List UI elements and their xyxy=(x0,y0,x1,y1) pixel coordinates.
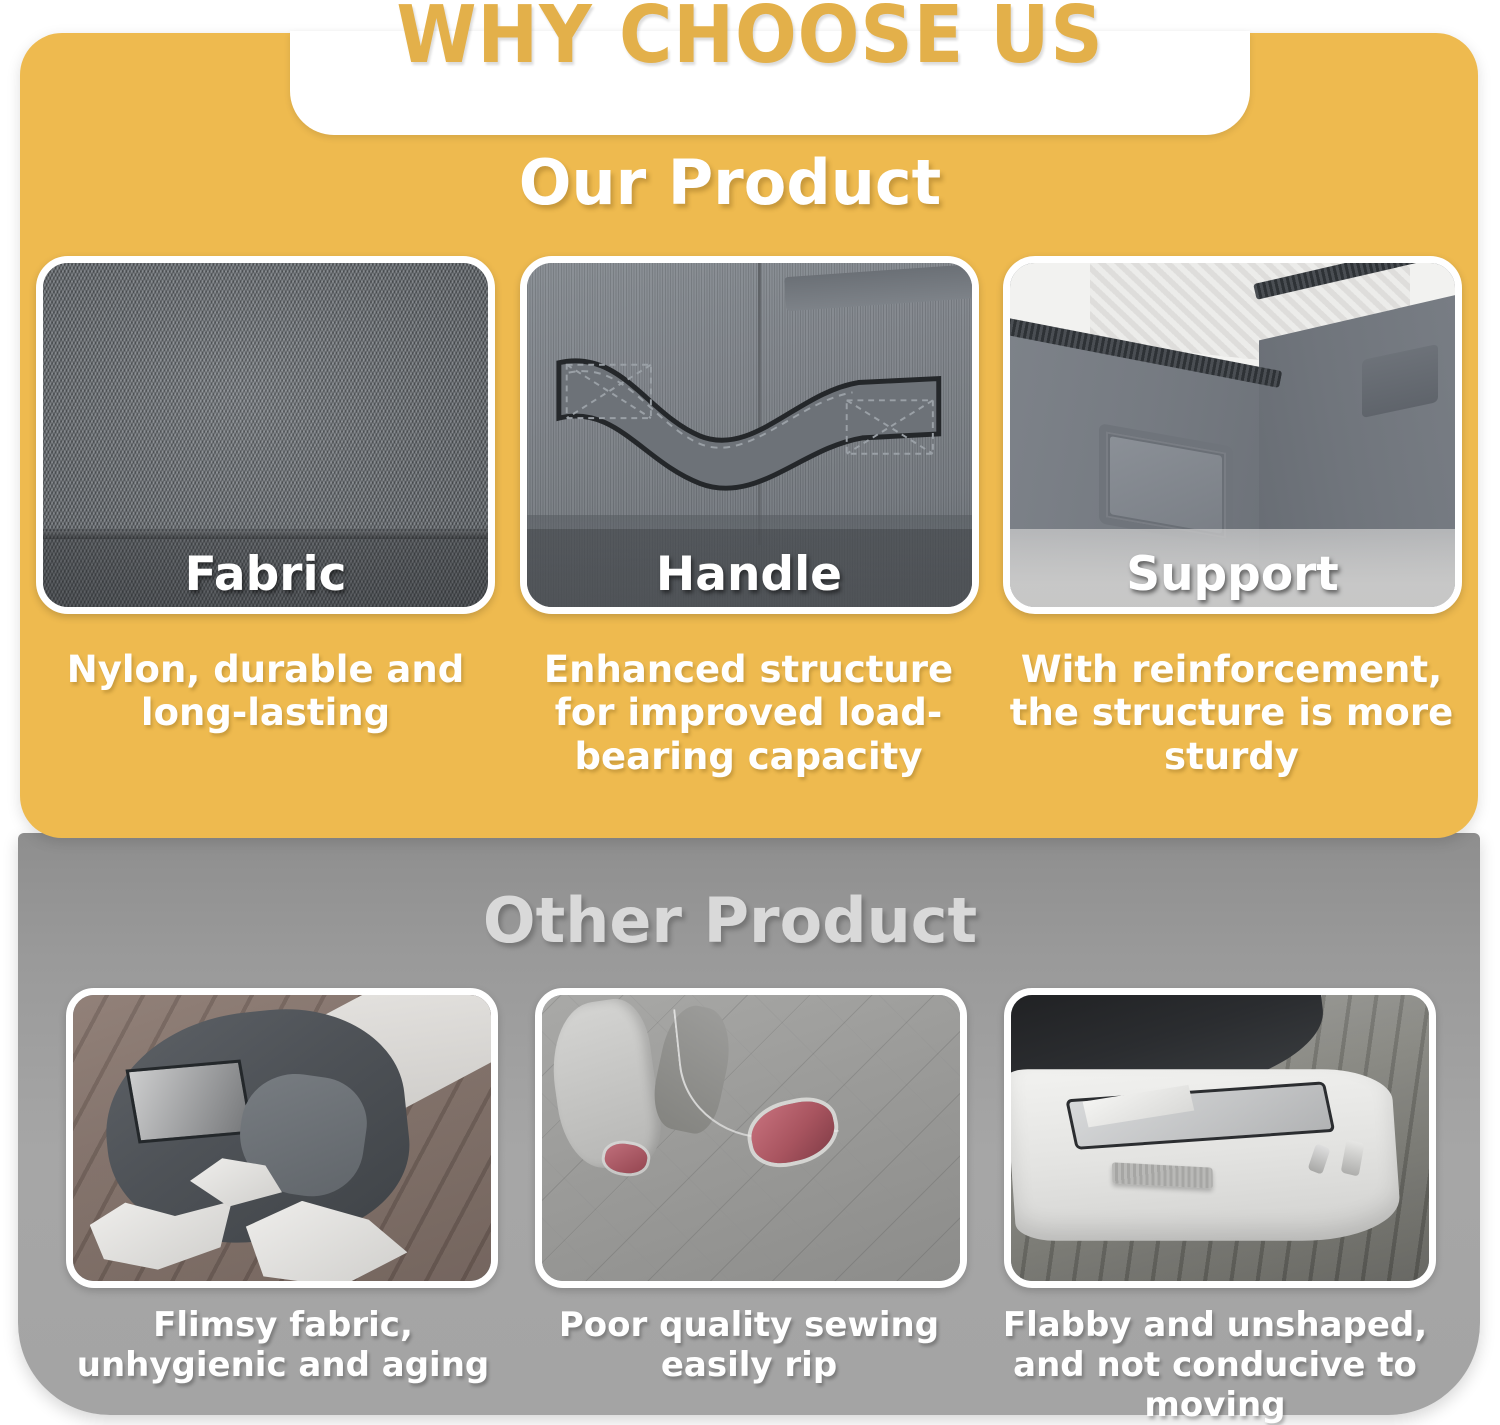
page-title: WHY CHOOSE US xyxy=(60,0,1440,77)
tile-label-support: Support xyxy=(1010,549,1455,601)
zipper-pull xyxy=(1308,1143,1331,1175)
bin-top-rim xyxy=(784,263,972,311)
bag-handle-strap xyxy=(1112,1163,1213,1189)
caption-handle: Enhanced structure for improved load-bea… xyxy=(519,648,978,778)
our-product-heading: Our Product xyxy=(0,152,1480,214)
other-product-tile-row xyxy=(66,988,1436,1288)
our-product-tile-row: Fabric Handle xyxy=(36,256,1462,614)
our-product-tile-fabric[interactable]: Fabric xyxy=(36,256,495,614)
carry-handle-strap xyxy=(553,339,945,497)
other-product-caption-row: Flimsy fabric, unhygienic and aging Poor… xyxy=(50,1306,1450,1425)
other-product-tile-2[interactable] xyxy=(535,988,967,1288)
caption-other-1: Flimsy fabric, unhygienic and aging xyxy=(50,1306,516,1425)
zipper-pull xyxy=(1341,1140,1365,1177)
other-product-tile-1[interactable] xyxy=(66,988,498,1288)
caption-support: With reinforcement, the structure is mor… xyxy=(1002,648,1461,778)
broken-bag-image xyxy=(73,995,491,1281)
tile-label-handle: Handle xyxy=(527,549,972,601)
vinyl-window-panel xyxy=(125,1059,253,1143)
infographic-canvas: WHY CHOOSE US Our Product Fabric xyxy=(0,0,1500,1425)
collapsed-bag-body xyxy=(1011,1070,1402,1241)
caption-other-2: Poor quality sewing easily rip xyxy=(516,1306,982,1425)
flabby-bag-image xyxy=(1011,995,1429,1281)
torn-handle-strap xyxy=(543,995,665,1173)
other-product-tile-3[interactable] xyxy=(1004,988,1436,1288)
our-product-caption-row: Nylon, durable and long-lasting Enhanced… xyxy=(36,648,1462,778)
our-product-tile-handle[interactable]: Handle xyxy=(520,256,979,614)
other-product-heading: Other Product xyxy=(0,890,1480,952)
ripped-fabric-image xyxy=(542,995,960,1281)
our-product-tile-support[interactable]: Support xyxy=(1003,256,1462,614)
caption-other-3: Flabby and unshaped, and not conducive t… xyxy=(982,1306,1448,1425)
caption-fabric: Nylon, durable and long-lasting xyxy=(36,648,495,778)
tile-label-fabric: Fabric xyxy=(43,549,488,601)
